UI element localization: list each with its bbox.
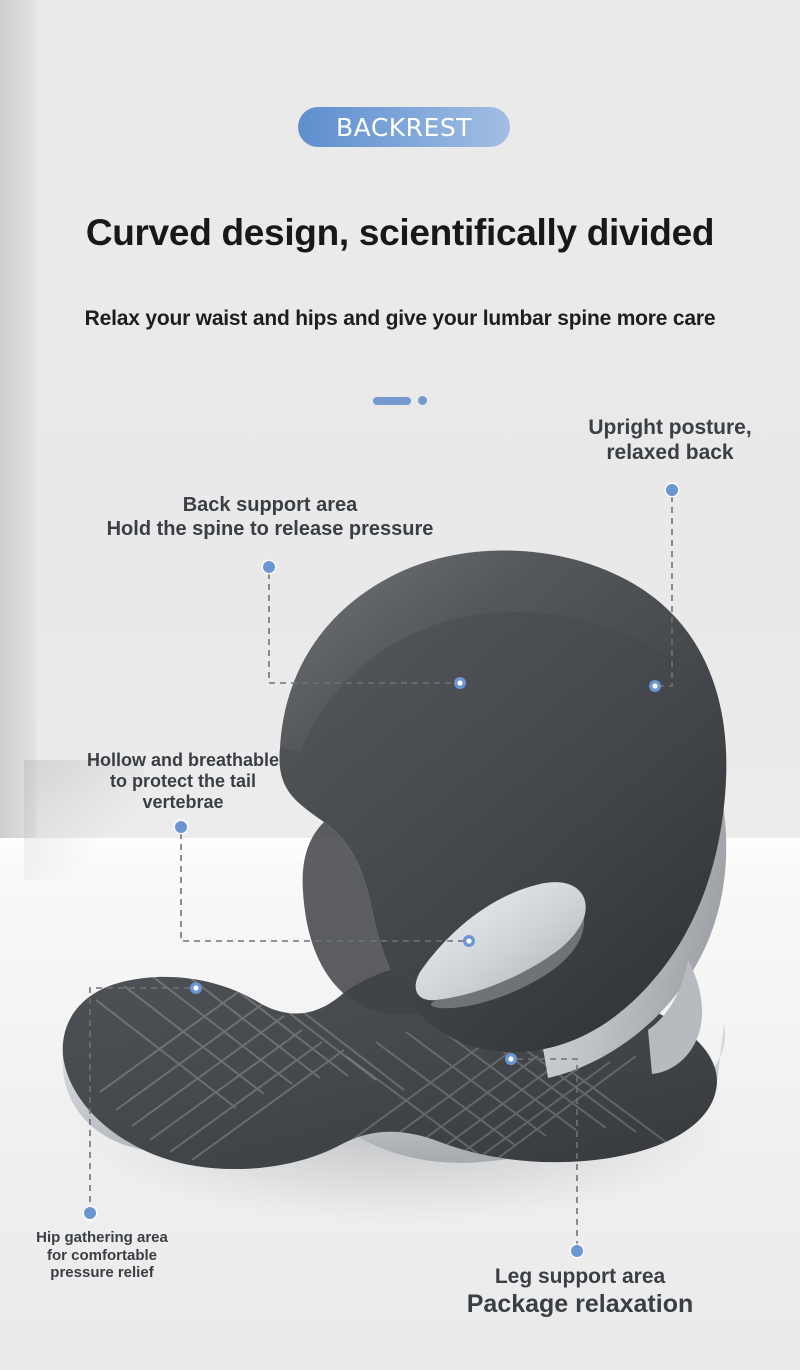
callout-line: for comfortable bbox=[12, 1247, 192, 1265]
callout-line: Leg support area bbox=[410, 1265, 750, 1290]
divider-bar bbox=[373, 397, 411, 405]
callout-line: relaxed back bbox=[540, 441, 800, 466]
callout-line: Package relaxation bbox=[410, 1290, 750, 1320]
backrest-badge: BACKREST bbox=[298, 107, 510, 147]
callout-line: vertebrae bbox=[38, 792, 328, 813]
bar-dot-divider-icon bbox=[0, 396, 800, 405]
callout-line: Upright posture, bbox=[540, 416, 800, 441]
page-title: Curved design, scientifically divided bbox=[0, 212, 800, 254]
callout-line: Hold the spine to release pressure bbox=[30, 518, 510, 542]
page-subtitle: Relax your waist and hips and give your … bbox=[0, 307, 800, 331]
divider-dot bbox=[418, 396, 427, 405]
callout-line: pressure relief bbox=[12, 1264, 192, 1282]
callout-back-support: Back support area Hold the spine to rele… bbox=[30, 494, 510, 541]
callout-upright-posture: Upright posture, relaxed back bbox=[540, 416, 800, 466]
callout-leg-support: Leg support area Package relaxation bbox=[410, 1265, 750, 1319]
callout-line: Back support area bbox=[30, 494, 510, 518]
callout-hip-gathering: Hip gathering area for comfortable press… bbox=[12, 1229, 192, 1282]
product-illustration bbox=[0, 0, 800, 1370]
callout-line: to protect the tail bbox=[38, 771, 328, 792]
callout-line: Hollow and breathable bbox=[38, 750, 328, 771]
callout-line: Hip gathering area bbox=[12, 1229, 192, 1247]
callout-hollow-breathable: Hollow and breathable to protect the tai… bbox=[38, 750, 328, 814]
